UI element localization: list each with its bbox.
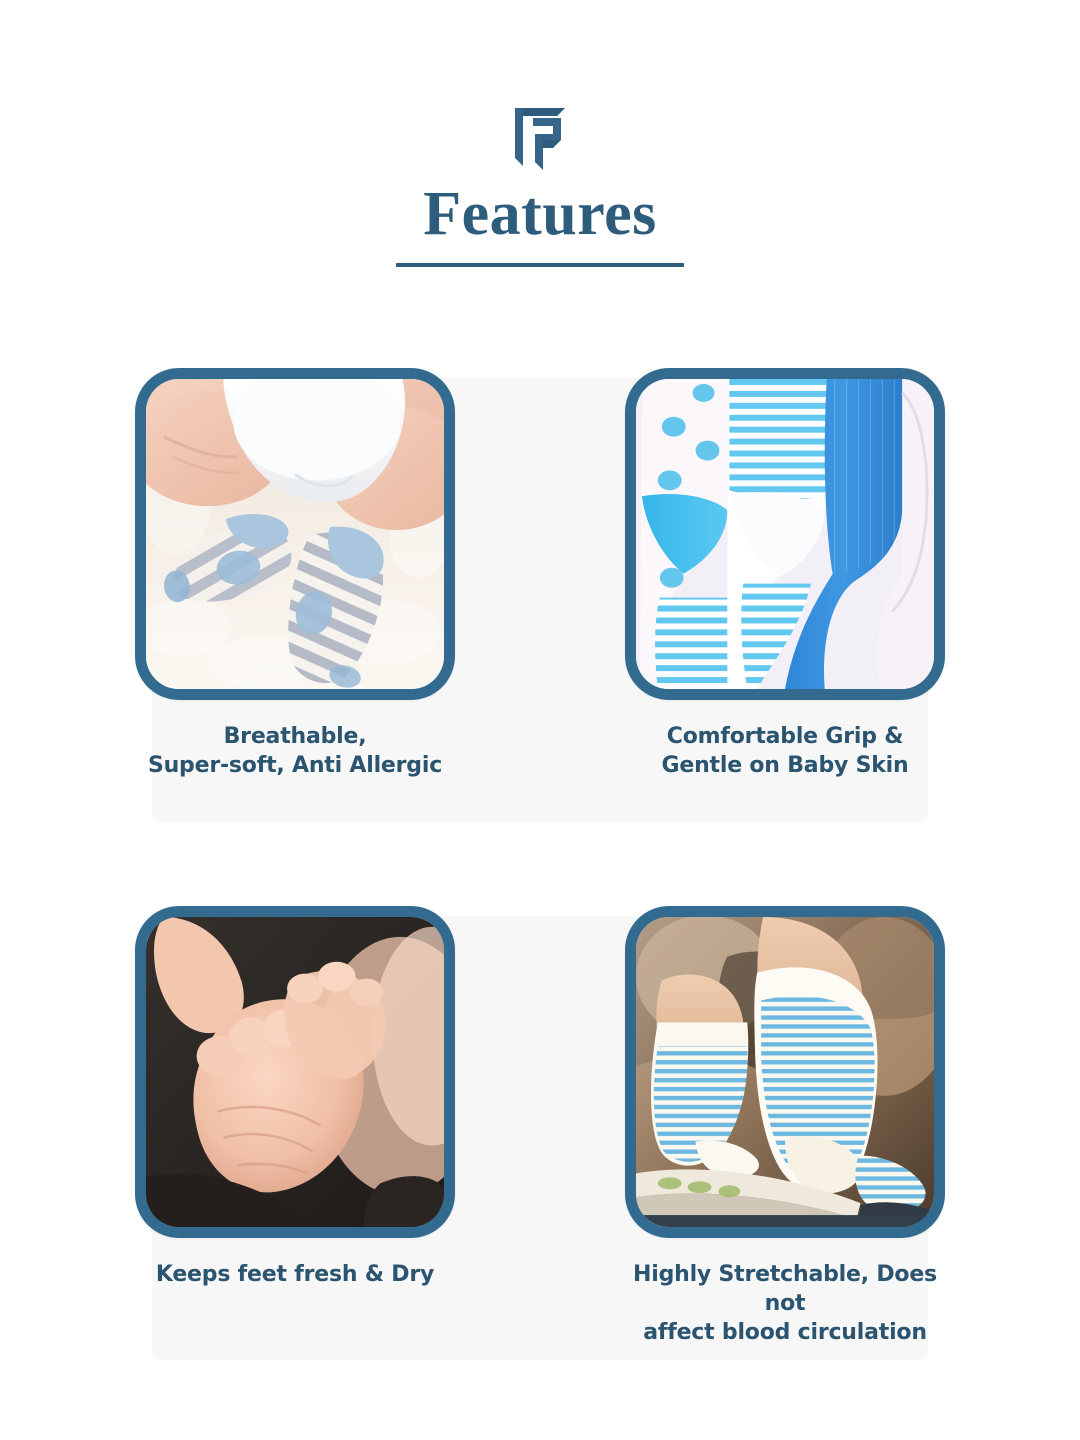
- feature-card-highly-stretchable[interactable]: Highly Stretchable, Does not affect bloo…: [625, 906, 945, 1372]
- page-title: Features: [423, 182, 657, 247]
- features-row-1: Breathable, Super-soft, Anti Allergic: [0, 368, 1080, 834]
- feature-caption: Breathable, Super-soft, Anti Allergic: [148, 722, 442, 780]
- feature-image-frame: [135, 368, 455, 700]
- feature-card-comfortable-grip[interactable]: Comfortable Grip & Gentle on Baby Skin: [625, 368, 945, 834]
- feature-card-breathable[interactable]: Breathable, Super-soft, Anti Allergic: [135, 368, 455, 834]
- title-underline-divider: [396, 263, 684, 267]
- baby-legs-in-grey-striped-socks-image: [146, 379, 444, 689]
- features-grid: Breathable, Super-soft, Anti Allergic: [0, 368, 1080, 1372]
- bare-baby-feet-close-up-image: [146, 917, 444, 1227]
- page-header: Features: [0, 0, 1080, 300]
- feature-caption: Keeps feet fresh & Dry: [156, 1260, 434, 1289]
- feature-image-frame: [135, 906, 455, 1238]
- feature-caption: Comfortable Grip & Gentle on Baby Skin: [662, 722, 909, 780]
- features-row-2: Keeps feet fresh & Dry: [0, 906, 1080, 1372]
- feature-card-fresh-and-dry[interactable]: Keeps feet fresh & Dry: [135, 906, 455, 1372]
- feature-image-frame: [625, 368, 945, 700]
- fp-monogram-logo-icon: [507, 104, 573, 174]
- feature-image-frame: [625, 906, 945, 1238]
- stack-of-blue-white-baby-socks-image: [636, 379, 934, 689]
- toddler-standing-in-striped-socks-image: [636, 917, 934, 1227]
- features-page: Features: [0, 0, 1080, 1440]
- feature-caption: Highly Stretchable, Does not affect bloo…: [625, 1260, 945, 1347]
